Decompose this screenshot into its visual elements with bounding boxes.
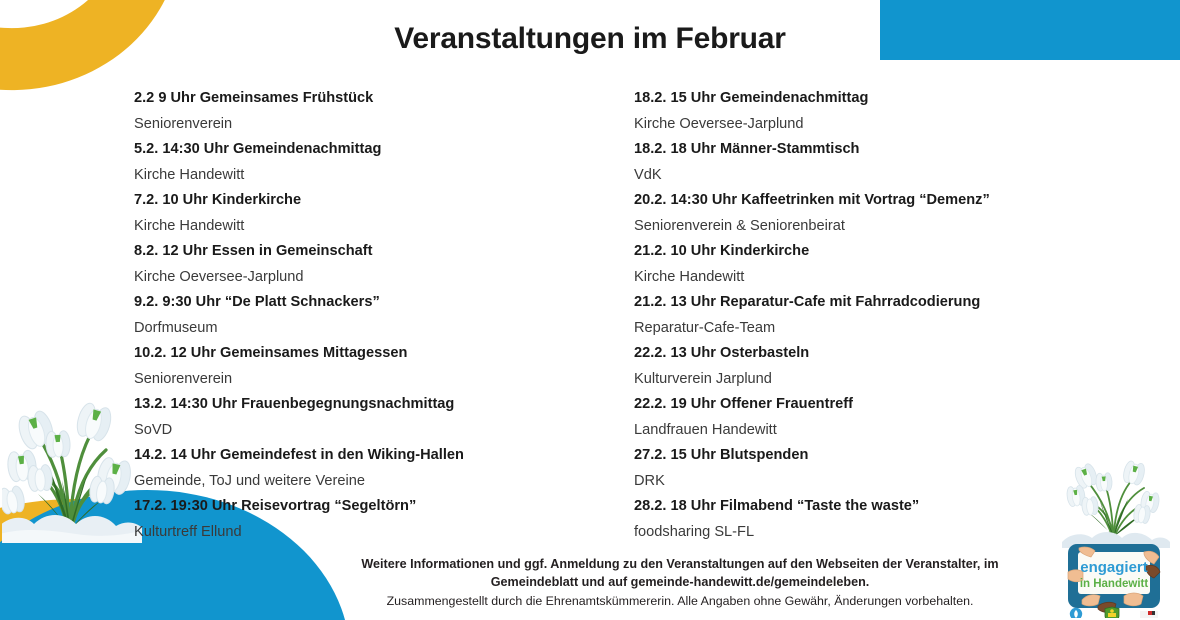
list-item: 18.2. 15 Uhr Gemeindenachmittag Kirche O… xyxy=(634,86,1134,137)
event-organizer: Kirche Handewitt xyxy=(134,214,634,240)
logo-word-sub: in Handewitt xyxy=(1080,578,1149,590)
event-organizer: Landfrauen Handewitt xyxy=(634,418,1134,444)
logo-word-main: engagiert xyxy=(1080,559,1148,576)
event-title: 9.2. 9:30 Uhr “De Platt Schnackers” xyxy=(134,290,634,316)
event-organizer: Kirche Oeversee-Jarplund xyxy=(134,265,634,291)
event-title: 14.2. 14 Uhr Gemeindefest in den Wiking-… xyxy=(134,443,634,469)
poster-canvas: Veranstaltungen im Februar 2.2 9 Uhr Gem… xyxy=(0,0,1180,620)
event-title: 2.2 9 Uhr Gemeinsames Frühstück xyxy=(134,86,634,112)
list-item: 22.2. 13 Uhr Osterbasteln Kulturverein J… xyxy=(634,341,1134,392)
event-organizer: SoVD xyxy=(134,418,634,444)
event-title: 22.2. 13 Uhr Osterbasteln xyxy=(634,341,1134,367)
event-organizer: Kulturtreff Ellund xyxy=(134,520,634,546)
footer-line-3: Zusammengestellt durch die Ehrenamtskümm… xyxy=(300,592,1060,610)
list-item: 9.2. 9:30 Uhr “De Platt Schnackers” Dorf… xyxy=(134,290,634,341)
event-title: 5.2. 14:30 Uhr Gemeindenachmittag xyxy=(134,137,634,163)
list-item: 2.2 9 Uhr Gemeinsames Frühstück Senioren… xyxy=(134,86,634,137)
event-title: 21.2. 13 Uhr Reparatur-Cafe mit Fahrradc… xyxy=(634,290,1134,316)
footer-line-1: Weitere Informationen und ggf. Anmeldung… xyxy=(300,556,1060,574)
event-organizer: Kirche Handewitt xyxy=(134,163,634,189)
list-item: 21.2. 10 Uhr Kinderkirche Kirche Handewi… xyxy=(634,239,1134,290)
list-item: 5.2. 14:30 Uhr Gemeindenachmittag Kirche… xyxy=(134,137,634,188)
partner-logos-row xyxy=(1070,607,1158,618)
event-title: 20.2. 14:30 Uhr Kaffeetrinken mit Vortra… xyxy=(634,188,1134,214)
event-organizer: Reparatur-Cafe-Team xyxy=(634,316,1134,342)
list-item: 7.2. 10 Uhr Kinderkirche Kirche Handewit… xyxy=(134,188,634,239)
event-title: 8.2. 12 Uhr Essen in Gemeinschaft xyxy=(134,239,634,265)
events-column-left: 2.2 9 Uhr Gemeinsames Frühstück Senioren… xyxy=(134,86,634,545)
list-item: 21.2. 13 Uhr Reparatur-Cafe mit Fahrradc… xyxy=(634,290,1134,341)
page-title: Veranstaltungen im Februar xyxy=(0,22,1180,56)
event-title: 13.2. 14:30 Uhr Frauenbegegnungsnachmitt… xyxy=(134,392,634,418)
event-title: 21.2. 10 Uhr Kinderkirche xyxy=(634,239,1134,265)
event-title: 7.2. 10 Uhr Kinderkirche xyxy=(134,188,634,214)
list-item: 14.2. 14 Uhr Gemeindefest in den Wiking-… xyxy=(134,443,634,494)
event-organizer: Kirche Handewitt xyxy=(634,265,1134,291)
events-area: 2.2 9 Uhr Gemeinsames Frühstück Senioren… xyxy=(0,86,1180,545)
footer-line-2: Gemeindeblatt und auf gemeinde-handewitt… xyxy=(300,574,1060,592)
event-title: 10.2. 12 Uhr Gemeinsames Mittagessen xyxy=(134,341,634,367)
event-organizer: Dorfmuseum xyxy=(134,316,634,342)
event-organizer: VdK xyxy=(634,163,1134,189)
event-title: 22.2. 19 Uhr Offener Frauentreff xyxy=(634,392,1134,418)
footer: Weitere Informationen und ggf. Anmeldung… xyxy=(300,556,1060,610)
list-item: 8.2. 12 Uhr Essen in Gemeinschaft Kirche… xyxy=(134,239,634,290)
event-title: 18.2. 18 Uhr Männer-Stammtisch xyxy=(634,137,1134,163)
event-organizer: Gemeinde, ToJ und weitere Vereine xyxy=(134,469,634,495)
event-title: 18.2. 15 Uhr Gemeindenachmittag xyxy=(634,86,1134,112)
event-organizer: Kirche Oeversee-Jarplund xyxy=(634,112,1134,138)
event-organizer: Kulturverein Jarplund xyxy=(634,367,1134,393)
list-item: 18.2. 18 Uhr Männer-Stammtisch VdK xyxy=(634,137,1134,188)
list-item: 22.2. 19 Uhr Offener Frauentreff Landfra… xyxy=(634,392,1134,443)
event-organizer: Seniorenverein xyxy=(134,367,634,393)
event-title: 17.2. 19:30 Uhr Reisevortrag “Segeltörn” xyxy=(134,494,634,520)
list-item: 20.2. 14:30 Uhr Kaffeetrinken mit Vortra… xyxy=(634,188,1134,239)
list-item: 10.2. 12 Uhr Gemeinsames Mittagessen Sen… xyxy=(134,341,634,392)
list-item: 17.2. 19:30 Uhr Reisevortrag “Segeltörn”… xyxy=(134,494,634,545)
event-organizer: Seniorenverein xyxy=(134,112,634,138)
event-organizer: Seniorenverein & Seniorenbeirat xyxy=(634,214,1134,240)
list-item: 13.2. 14:30 Uhr Frauenbegegnungsnachmitt… xyxy=(134,392,634,443)
logo-engagiert-in-handewitt: engagiert in Handewitt xyxy=(1054,448,1172,618)
